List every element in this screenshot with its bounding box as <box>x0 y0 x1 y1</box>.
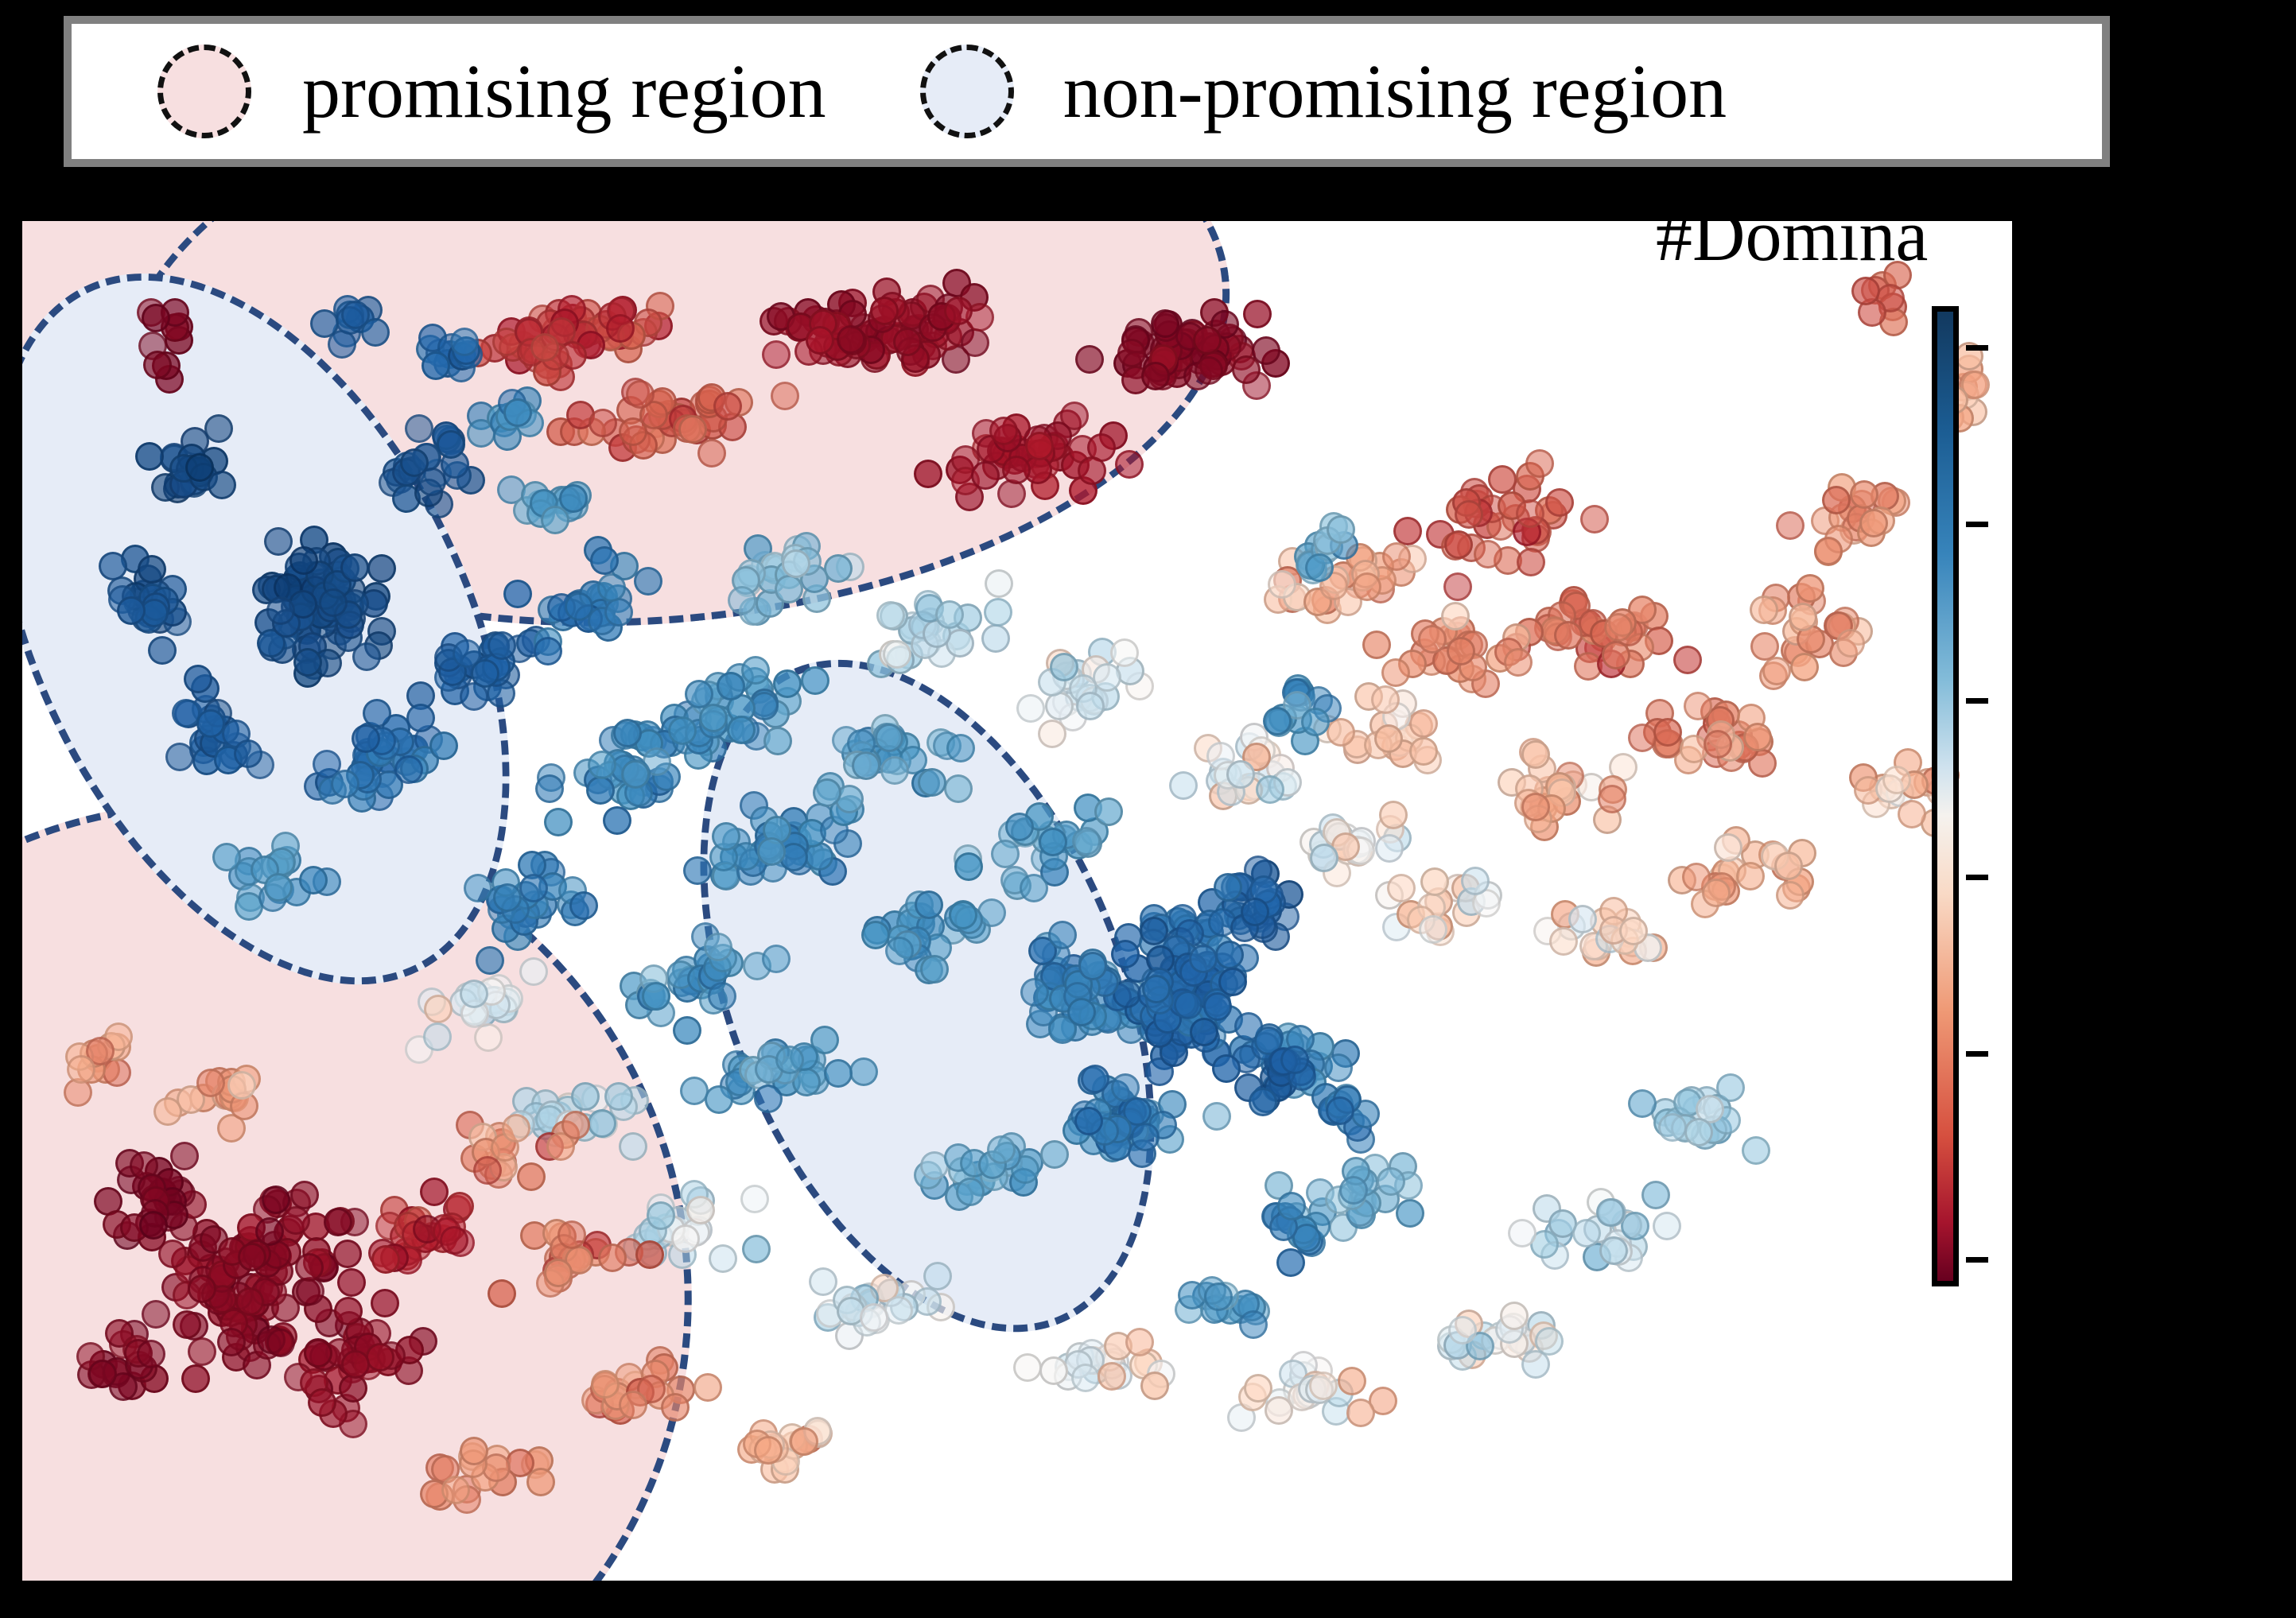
scatter-point <box>1549 927 1578 956</box>
scatter-point <box>686 1196 715 1224</box>
scatter-point <box>597 573 626 602</box>
scatter-point <box>598 1244 627 1272</box>
scatter-point <box>709 1244 737 1273</box>
scatter-point <box>1131 1123 1160 1151</box>
scatter-point <box>1326 1096 1354 1125</box>
scatter-point <box>1420 867 1449 896</box>
scatter-point <box>437 430 465 459</box>
scatter-point <box>1039 1356 1068 1385</box>
scatter-point <box>1067 998 1096 1026</box>
scatter-point <box>488 631 516 660</box>
scatter-point <box>1249 1088 1277 1116</box>
scatter-point <box>361 318 390 347</box>
scatter-point <box>502 1114 530 1143</box>
scatter-point <box>493 883 522 912</box>
scatter-point <box>208 471 236 499</box>
scatter-point <box>586 776 615 805</box>
scatter-point <box>1174 991 1202 1019</box>
colorbar-tick <box>1966 875 1988 880</box>
scatter-point <box>1125 1328 1154 1356</box>
scatter-point <box>775 575 803 603</box>
scatter-point <box>1078 952 1107 980</box>
colorbar-tick <box>1966 698 1988 704</box>
scatter-point <box>1596 1198 1625 1227</box>
scatter-point <box>1750 596 1778 624</box>
scatter-point <box>762 945 791 973</box>
scatter-point <box>852 751 880 780</box>
scatter-point <box>1381 658 1410 687</box>
scatter-point <box>341 1350 370 1379</box>
scatter-point <box>790 1427 818 1456</box>
scatter-point <box>1796 574 1824 603</box>
scatter-point <box>1714 833 1742 862</box>
scatter-point <box>1353 572 1381 601</box>
scatter-point <box>1658 1113 1687 1142</box>
scatter-point <box>642 982 670 1011</box>
scatter-point <box>1212 1054 1241 1083</box>
scatter-point <box>1202 1102 1231 1131</box>
scatter-point <box>188 1337 216 1366</box>
scatter-point <box>727 716 756 744</box>
scatter-point <box>763 727 792 755</box>
colorbar-tick <box>1966 522 1988 527</box>
scatter-point <box>264 527 293 556</box>
scatter-point <box>1346 1399 1375 1427</box>
scatter-point <box>424 995 453 1023</box>
scatter-point <box>1072 827 1101 856</box>
scatter-point <box>590 546 619 575</box>
scatter-point <box>1241 898 1269 926</box>
scatter-point <box>238 1243 266 1271</box>
scatter-point <box>1851 277 1880 305</box>
scatter-point <box>429 731 458 760</box>
scatter-point <box>153 1097 182 1126</box>
scatter-point <box>801 666 829 695</box>
scatter-point <box>1189 945 1218 973</box>
scatter-point <box>591 1370 620 1399</box>
scatter-point <box>289 546 318 575</box>
scatter-point <box>1140 1372 1169 1400</box>
scatter-point <box>1232 355 1261 384</box>
scatter-point <box>997 479 1026 508</box>
scatter-point <box>418 468 446 496</box>
scatter-point <box>143 351 172 379</box>
scatter-point <box>1071 1364 1100 1392</box>
scatter-point <box>450 328 479 356</box>
scatter-point <box>989 417 1018 445</box>
scatter-point <box>334 1297 363 1325</box>
scatter-point <box>757 837 786 866</box>
scatter-point <box>423 1022 452 1051</box>
scatter-point <box>1776 881 1805 910</box>
scatter-point <box>1190 1018 1218 1046</box>
scatter-point <box>1599 1236 1628 1265</box>
colorbar <box>1932 306 1959 1286</box>
scatter-point <box>661 1393 690 1422</box>
scatter-point <box>1419 915 1447 944</box>
scatter-point <box>680 1077 709 1105</box>
scatter-point <box>1050 653 1078 681</box>
scatter-point <box>699 704 728 732</box>
scatter-point <box>464 874 492 902</box>
scatter-point <box>740 1185 769 1213</box>
scatter-point <box>1169 771 1198 800</box>
scatter-point <box>535 774 564 803</box>
scatter-point <box>196 1069 225 1097</box>
scatter-point <box>1704 730 1732 759</box>
scatter-point <box>824 1059 853 1088</box>
scatter-point <box>1441 602 1470 631</box>
scatter-point <box>717 672 745 700</box>
scatter-point <box>762 340 791 369</box>
scatter-point <box>460 1437 488 1465</box>
scatter-point <box>181 1364 210 1393</box>
scatter-point <box>1790 653 1819 681</box>
scatter-point <box>1488 465 1517 494</box>
scatter-point <box>923 1262 952 1290</box>
scatter-point <box>142 304 170 332</box>
scatter-point <box>1002 456 1031 484</box>
scatter-point <box>1117 339 1146 367</box>
scatter-point <box>1716 1073 1745 1102</box>
scatter-point <box>394 755 423 784</box>
scatter-point <box>1218 968 1247 996</box>
scatter-point <box>728 586 756 615</box>
scatter-point <box>944 297 973 325</box>
scatter-point <box>1789 603 1817 631</box>
colorbar-tick <box>1966 1257 1988 1263</box>
scatter-point <box>204 414 233 443</box>
scatter-point <box>534 637 562 665</box>
scatter-point <box>1859 509 1888 537</box>
scatter-point <box>371 1245 400 1274</box>
scatter-point <box>352 724 380 753</box>
scatter-point <box>1379 801 1408 829</box>
scatter-point <box>561 1111 590 1139</box>
scatter-point <box>861 921 890 949</box>
scatter-point <box>1305 553 1334 582</box>
scatter-point <box>1309 1372 1338 1400</box>
scatter-point <box>1048 921 1077 949</box>
scatter-point <box>668 716 697 745</box>
scatter-point <box>1545 488 1574 517</box>
scatter-point <box>1016 694 1045 723</box>
scatter-point <box>173 1310 201 1339</box>
scatter-point <box>849 1057 878 1086</box>
scatter-point <box>893 328 922 356</box>
scatter-point <box>824 554 853 583</box>
scatter-point <box>1193 326 1222 355</box>
scatter-point <box>954 852 983 881</box>
scatter-point <box>1517 548 1545 576</box>
scatter-point <box>782 549 810 578</box>
scatter-point <box>117 596 146 625</box>
scatter-point <box>324 1208 352 1236</box>
scatter-point <box>1443 572 1472 601</box>
promising-region-marker-icon <box>157 45 251 138</box>
scatter-point <box>920 955 949 984</box>
scatter-point <box>1653 718 1682 747</box>
scatter-point <box>188 1275 216 1303</box>
scatter-point <box>673 1016 701 1045</box>
scatter-point <box>685 680 713 708</box>
scatter-point <box>883 640 911 669</box>
scatter-point <box>1850 480 1878 509</box>
scatter-point <box>860 1303 888 1332</box>
scatter-point <box>1762 657 1791 685</box>
scatter-point <box>1025 432 1054 460</box>
scatter-point <box>1641 1181 1670 1209</box>
scatter-point <box>1604 613 1633 642</box>
legend-entry-promising: promising region <box>157 45 826 138</box>
scatter-plot-panel <box>22 221 2012 1581</box>
scatter-point <box>544 808 573 836</box>
scatter-point <box>754 1084 783 1113</box>
scatter-point <box>1110 638 1139 667</box>
scatter-point <box>405 414 433 443</box>
scatter-point <box>1521 793 1550 821</box>
scatter-point <box>915 890 943 919</box>
scatter-point <box>604 1082 633 1111</box>
scatter-point <box>1602 641 1630 669</box>
scatter-point <box>1040 1140 1069 1169</box>
scatter-point <box>619 1391 647 1419</box>
scatter-point <box>713 392 742 421</box>
scatter-point <box>918 768 946 797</box>
scatter-point <box>875 724 903 752</box>
scatter-point <box>1702 879 1731 907</box>
scatter-point <box>460 980 488 1008</box>
colorbar-title: #Domina <box>1656 199 1928 272</box>
scatter-point <box>541 506 569 534</box>
scatter-point <box>589 409 617 437</box>
scatter-point <box>1039 828 1067 856</box>
scatter-point <box>569 891 598 920</box>
scatter-point <box>626 380 655 409</box>
scatter-point <box>519 957 548 986</box>
scatter-point <box>565 592 593 621</box>
scatter-point <box>1204 1282 1233 1311</box>
scatter-point <box>1013 1353 1042 1382</box>
scatter-point <box>1375 834 1404 863</box>
scatter-point <box>1214 873 1242 902</box>
scatter-point <box>1239 1310 1268 1339</box>
scatter-point <box>741 656 770 685</box>
scatter-point <box>876 601 905 630</box>
scatter-point <box>870 297 899 325</box>
scatter-point <box>1382 542 1411 571</box>
scatter-point <box>944 774 973 803</box>
scatter-point <box>1455 500 1483 529</box>
scatter-point <box>981 624 1010 653</box>
scatter-point <box>139 1211 168 1240</box>
legend-entry-non-promising: non-promising region <box>920 45 1727 138</box>
scatter-point <box>88 1360 117 1388</box>
scatter-point <box>337 1268 366 1297</box>
scatter-point <box>1554 621 1583 650</box>
scatter-point <box>1387 874 1416 902</box>
scatter-point <box>1276 1248 1305 1277</box>
scatter-point <box>519 874 548 902</box>
scatter-point <box>946 734 975 762</box>
scatter-point <box>366 1343 394 1372</box>
scatter-point <box>99 552 127 580</box>
scatter-point <box>697 439 726 468</box>
scatter-point <box>1277 1192 1306 1220</box>
scatter-point <box>1409 709 1438 738</box>
scatter-point <box>1580 505 1609 534</box>
scatter-point <box>367 554 396 583</box>
colorbar-tick <box>1966 345 1988 351</box>
scatter-point <box>884 1296 913 1325</box>
scatter-point <box>1898 800 1926 828</box>
scatter-point <box>604 598 633 627</box>
scatter-point <box>773 669 802 698</box>
scatter-point <box>1504 648 1533 677</box>
scatter-point <box>1327 515 1355 544</box>
scatter-point <box>837 325 865 354</box>
scatter-point <box>1882 766 1911 794</box>
colorbar-tick <box>1966 1051 1988 1057</box>
scatter-point <box>227 1071 256 1100</box>
scatter-point <box>235 1287 264 1316</box>
scatter-point <box>266 596 295 625</box>
scatter-point <box>1568 905 1597 933</box>
scatter-point <box>1338 1367 1366 1395</box>
scatter-point <box>678 415 707 444</box>
scatter-point <box>1572 1219 1601 1247</box>
scatter-point <box>1243 300 1272 328</box>
scatter-point <box>1094 797 1123 826</box>
scatter-point <box>1474 540 1502 568</box>
scatter-point <box>420 1178 449 1206</box>
scatter-point <box>517 1162 546 1191</box>
scatter-point <box>1339 1176 1368 1205</box>
scatter-point <box>809 1267 837 1296</box>
non-promising-region-marker-icon <box>920 45 1014 138</box>
scatter-point <box>885 937 914 965</box>
scatter-point <box>1628 724 1657 752</box>
legend-label-non-promising: non-promising region <box>1063 53 1727 130</box>
scatter-point <box>956 1178 985 1206</box>
scatter-point <box>304 1339 332 1368</box>
scatter-point <box>488 1279 516 1308</box>
scatter-point <box>613 719 642 747</box>
scatter-point <box>1653 1212 1681 1240</box>
scatter-point <box>1447 637 1475 665</box>
scatter-point <box>266 1329 295 1357</box>
scatter-point <box>1215 941 1244 969</box>
scatter-point <box>1195 356 1223 385</box>
legend-label-promising: promising region <box>302 53 826 130</box>
scatter-point <box>440 1226 468 1255</box>
scatter-point <box>1038 720 1066 748</box>
scatter-point <box>1598 785 1626 813</box>
scatter-point <box>754 1436 783 1465</box>
scatter-point <box>471 659 499 688</box>
scatter-point <box>708 982 736 1011</box>
scatter-point <box>949 901 977 929</box>
scatter-point <box>1074 1107 1103 1135</box>
scatter-point <box>1396 1199 1424 1228</box>
scatter-point <box>1535 1327 1564 1356</box>
scatter-point <box>1776 511 1805 540</box>
scatter-point <box>1005 813 1034 841</box>
scatter-point <box>544 1259 573 1287</box>
scatter-point <box>1673 646 1702 674</box>
scatter-point <box>1244 1374 1272 1403</box>
scatter-point <box>693 1373 722 1402</box>
scatter-point <box>234 739 262 768</box>
scatter-point <box>742 1235 771 1263</box>
scatter-point <box>1078 456 1106 485</box>
scatter-point <box>671 1224 700 1253</box>
scatter-point <box>571 1082 600 1111</box>
scatter-point <box>971 461 1000 490</box>
scatter-point <box>170 1142 199 1170</box>
scatter-point <box>1097 1362 1126 1391</box>
scatter-point <box>310 309 339 338</box>
scatter-point <box>603 806 631 835</box>
scatter-point <box>217 1328 246 1356</box>
scatter-point <box>1409 737 1438 766</box>
scatter-point <box>1203 992 1232 1021</box>
scatter-point <box>1263 707 1292 735</box>
scatter-point <box>1742 1136 1770 1165</box>
scatter-point <box>1500 1302 1529 1330</box>
scatter-point <box>1521 740 1550 769</box>
scatter-point <box>331 770 359 798</box>
plot-canvas <box>22 221 2012 1581</box>
scatter-point <box>1111 940 1140 968</box>
scatter-point <box>712 822 740 851</box>
scatter-point <box>1362 631 1391 659</box>
legend-box: promising region non-promising region <box>64 16 2110 167</box>
scatter-point <box>1268 570 1296 599</box>
scatter-point <box>984 598 1012 627</box>
scatter-point <box>985 569 1013 598</box>
scatter-point <box>1814 537 1843 565</box>
scatter-point <box>606 314 635 343</box>
scatter-point <box>1836 629 1865 658</box>
scatter-point <box>1525 449 1554 478</box>
scatter-point <box>1736 862 1765 890</box>
scatter-point <box>987 1135 1016 1164</box>
scatter-point <box>914 460 942 488</box>
scatter-point <box>503 580 532 608</box>
scatter-point <box>299 866 328 894</box>
scatter-point <box>422 351 450 380</box>
scatter-point <box>1115 450 1144 479</box>
scatter-point <box>1393 517 1422 545</box>
scatter-point <box>1076 692 1105 720</box>
scatter-point <box>1324 1053 1353 1082</box>
scatter-point <box>137 1340 165 1368</box>
